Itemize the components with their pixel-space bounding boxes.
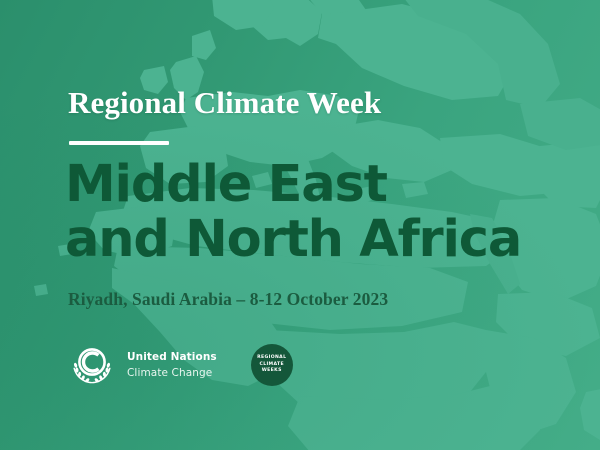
badge-line1: Regional [257,355,286,362]
unfccc-c-wreath-icon [68,341,116,389]
un-wordmark-line1: United Nations [127,352,217,363]
poster-content: Regional Climate Week Middle East and No… [68,0,588,450]
un-wordmark-line2: Climate Change [127,368,217,379]
location-date-line: Riyadh, Saudi Arabia – 8-12 October 2023 [68,287,388,311]
logo-bar: United Nations Climate Change Regional C… [68,341,293,389]
regional-climate-week-poster: Regional Climate Week Middle East and No… [0,0,600,450]
regional-climate-weeks-badge: Regional Climate Weeks [251,344,293,386]
badge-line3: Weeks [262,368,282,375]
title-divider-rule [69,141,169,145]
un-climate-change-wordmark: United Nations Climate Change [127,352,217,378]
page-title: Middle East and North Africa [65,157,521,267]
eyebrow-text: Regional Climate Week [68,84,381,122]
